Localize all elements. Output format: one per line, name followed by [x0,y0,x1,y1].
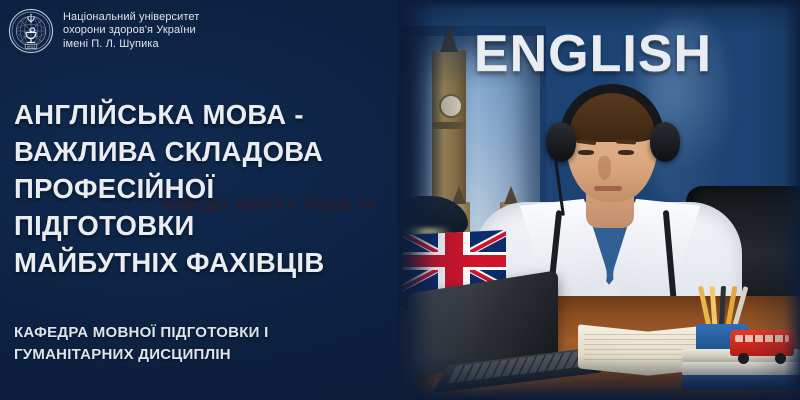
university-branding: НУОЗ Національний університет охорони зд… [8,8,199,54]
svg-text:НУОЗ: НУОЗ [27,45,36,49]
bus-body [730,330,794,356]
promo-banner: ENGLISH [0,0,800,400]
eye-right [618,150,634,155]
mouth [594,186,622,191]
eye-left [578,150,594,155]
bus-wheel-front [738,353,749,364]
book-stack-bottom [682,375,800,390]
department-subtitle: КАФЕДРА МОВНОЇ ПІДГОТОВКИ І ГУМАНІТАРНИХ… [14,322,354,366]
nuozu-crest-icon: НУОЗ [8,8,54,54]
bus-wheel-rear [775,353,786,364]
nose [598,156,611,180]
laptop [404,282,604,390]
headline-text: АНГЛІЙСЬКА МОВА - ВАЖЛИВА СКЛАДОВА ПРОФЕ… [14,96,386,281]
headphone-earcup-left [546,122,576,162]
red-double-decker-bus-toy [730,330,794,364]
headphones-headband-icon [560,84,664,138]
photo-panel: ENGLISH [398,0,800,400]
pencil-3 [719,286,726,326]
headphone-earcup-right [650,122,680,162]
bus-windows [735,335,789,342]
university-name: Національний університет охорони здоров'… [63,11,199,52]
